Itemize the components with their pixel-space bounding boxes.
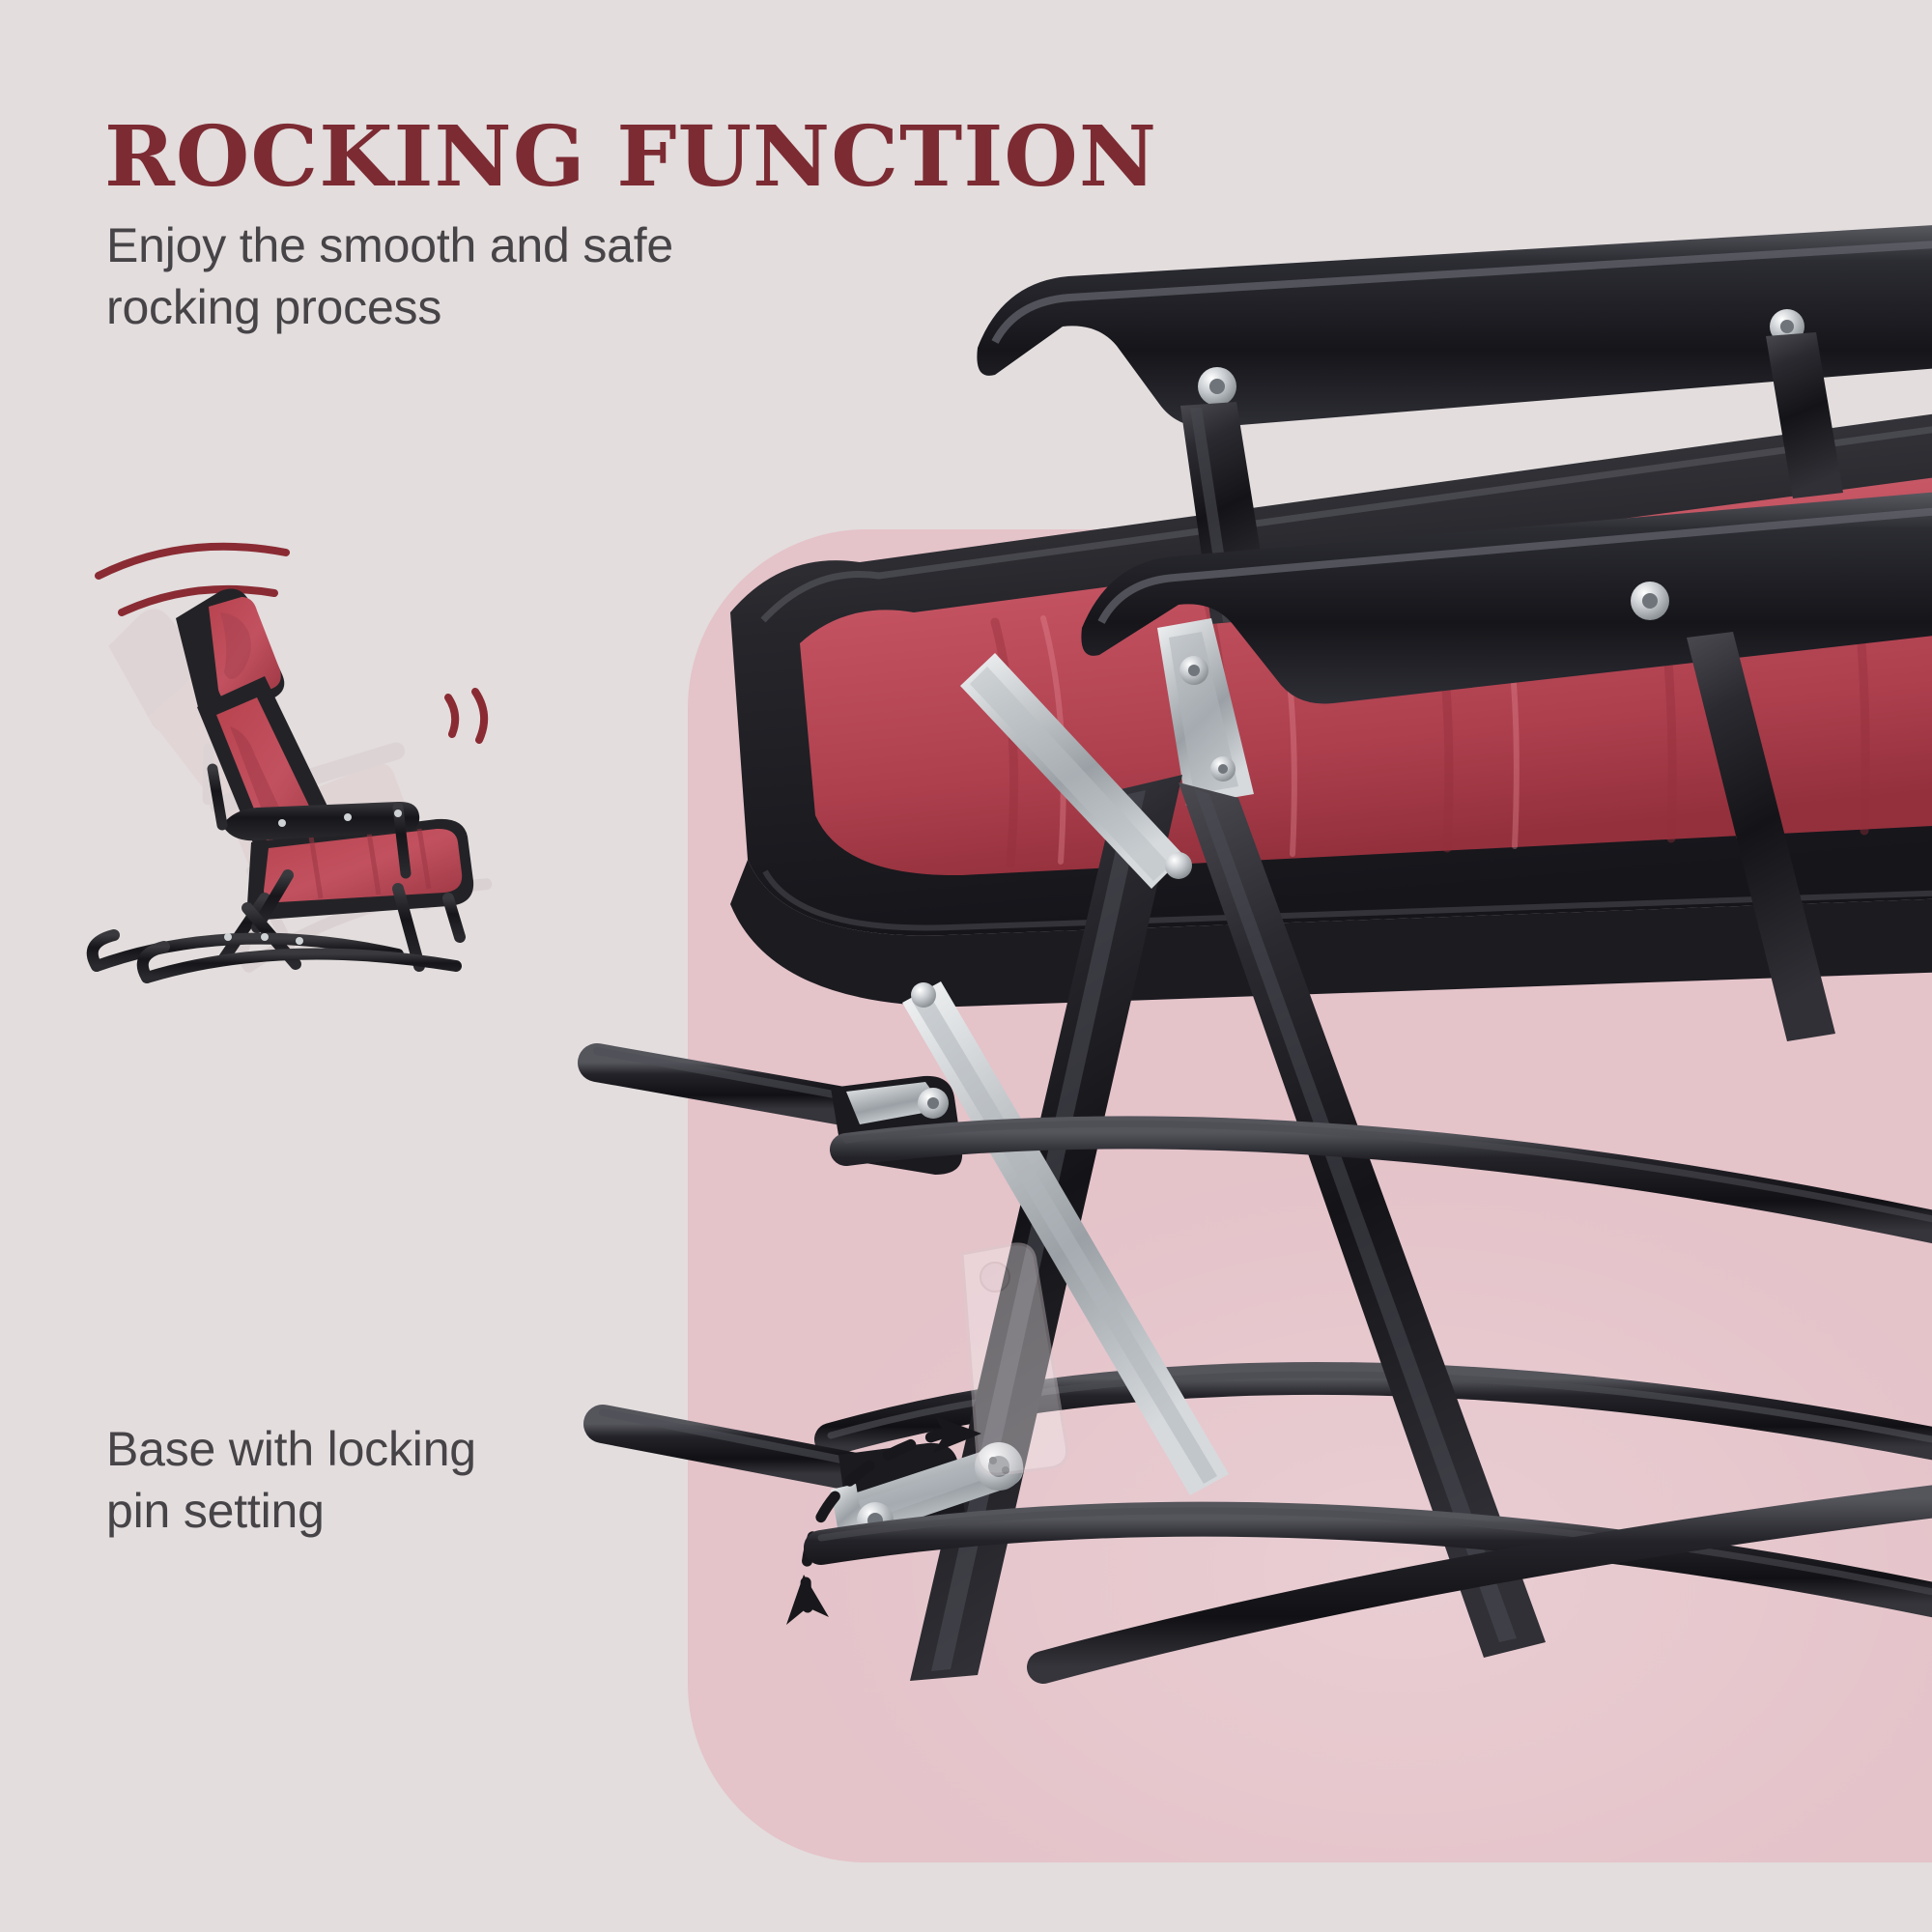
mini-rocker-rails — [93, 935, 456, 978]
page-title: ROCKING FUNCTION — [104, 116, 1157, 199]
hero-rocking-chair-closeup — [541, 222, 1932, 1864]
product-feature-image: ROCKING FUNCTION Enjoy the smooth and sa… — [0, 0, 1932, 1932]
motion-arc-top — [99, 547, 286, 612]
mini-rocking-chair-illustration — [58, 483, 599, 985]
motion-arc-right — [448, 692, 484, 740]
